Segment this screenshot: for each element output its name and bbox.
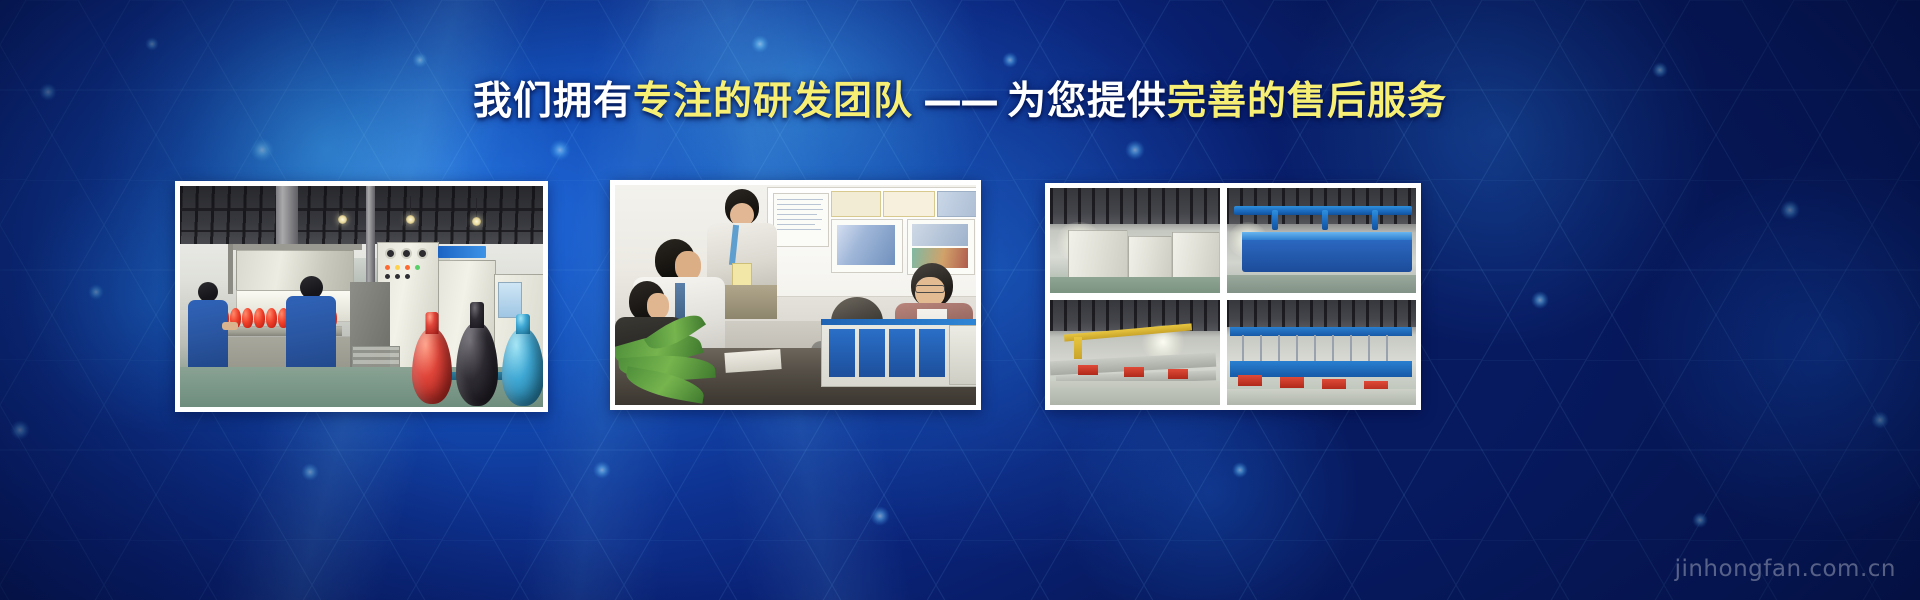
machine-blue-unit — [829, 329, 855, 377]
machine-illustration — [837, 225, 895, 265]
oven-top-highlight — [1242, 232, 1412, 240]
control-knob — [387, 250, 394, 257]
site-watermark: jinhongfan.com.cn — [1675, 556, 1896, 582]
product-vase-dark — [456, 302, 498, 406]
red-carrier — [1238, 375, 1262, 386]
q1-roof-structure — [1050, 188, 1222, 224]
vase-body — [502, 328, 543, 406]
headline-divider-dash: —— — [913, 79, 1007, 124]
poster-line — [777, 214, 817, 215]
pipe-drop — [1272, 210, 1278, 230]
product-vase-blue — [502, 314, 543, 406]
vase-body — [412, 328, 452, 404]
poster-text-block — [773, 193, 829, 247]
poster-line — [777, 219, 822, 220]
red-fixture — [1078, 365, 1098, 375]
indicator-led — [385, 274, 390, 279]
brand-label — [438, 246, 486, 258]
roof-beam — [180, 230, 543, 232]
indicator-led — [405, 274, 410, 279]
worker-hand — [222, 322, 238, 330]
vase-body — [456, 322, 498, 406]
red-product — [266, 308, 277, 328]
oven-cabinet — [1172, 232, 1220, 280]
poster-line — [777, 199, 823, 200]
red-fixture — [1168, 369, 1188, 379]
vase-neck — [470, 302, 484, 328]
collage-horizontal-divider — [1050, 293, 1416, 300]
red-fixture — [1124, 367, 1144, 377]
eyeglasses — [915, 285, 945, 293]
q4-roof-structure — [1226, 299, 1416, 327]
document-sheet — [724, 349, 781, 373]
overhead-rail — [1230, 327, 1412, 336]
lamp-wire — [342, 194, 343, 216]
collage-quadrant-bottom-right — [1226, 299, 1416, 405]
machine-blue-unit — [889, 329, 915, 377]
collage-quadrant-bottom-left — [1050, 299, 1222, 405]
worker-uniform — [188, 300, 228, 374]
poster-line — [777, 229, 821, 230]
q3-floor — [1050, 381, 1222, 405]
control-knob — [419, 250, 426, 257]
vase-neck — [426, 312, 439, 334]
ceiling-lamp — [406, 215, 415, 224]
gantry-post — [1074, 337, 1082, 359]
collage-quadrant-top-left — [1050, 188, 1222, 295]
machine-top-rail — [821, 319, 976, 325]
roof-beam — [180, 208, 543, 211]
oven-rail — [228, 244, 362, 250]
ceiling-lamp — [338, 215, 347, 224]
red-carrier — [1280, 377, 1304, 388]
machine-blue-unit — [919, 329, 945, 377]
machine-blue-unit — [859, 329, 885, 377]
machine-notice-card — [498, 282, 522, 318]
collage-quadrant-top-right — [1226, 188, 1416, 295]
q2-floor — [1226, 275, 1416, 295]
poster-line — [777, 204, 821, 205]
control-knob — [403, 250, 410, 257]
worker-head — [198, 282, 218, 302]
rnd-team-meeting-image — [615, 185, 976, 405]
headline-segment-2: 专注的研发团队 — [633, 79, 913, 124]
product-vase-red — [412, 312, 452, 404]
headline-segment-1: 我们拥有 — [473, 79, 633, 124]
poster-line — [777, 224, 815, 225]
banner-headline: 我们拥有专注的研发团队——为您提供完善的售后服务 — [473, 82, 1447, 121]
headline-container: 我们拥有专注的研发团队——为您提供完善的售后服务 — [0, 82, 1920, 121]
indicator-led — [395, 265, 400, 270]
headline-segment-4: 完善的售后服务 — [1167, 79, 1447, 124]
red-product — [242, 308, 253, 328]
promo-banner: 我们拥有专注的研发团队——为您提供完善的售后服务 — [0, 0, 1920, 600]
indicator-led — [385, 265, 390, 270]
factory-coating-line-image — [180, 186, 543, 407]
poster-certificate — [883, 191, 935, 217]
factory-thumbnail — [912, 224, 968, 246]
pipe-drop — [1372, 210, 1378, 230]
poster-line — [777, 209, 823, 210]
indicator-led — [395, 274, 400, 279]
workshop-collage-photo[interactable] — [1045, 183, 1421, 410]
oven-cabinet — [1068, 230, 1128, 280]
machine-end-cabinet — [949, 325, 976, 385]
pipe-drop — [1322, 210, 1328, 230]
vase-neck — [516, 314, 530, 334]
indicator-led — [415, 265, 420, 270]
ceiling-lamp — [472, 217, 481, 226]
lamp-wire — [476, 198, 477, 218]
indicator-led — [405, 265, 410, 270]
woman-face — [647, 293, 669, 319]
poster-diagram — [937, 191, 976, 217]
workshop-roof — [180, 186, 543, 248]
rnd-team-meeting-photo[interactable] — [610, 180, 981, 410]
id-badge — [732, 263, 752, 287]
support-column — [366, 186, 375, 290]
lamp-wire — [410, 196, 411, 216]
factory-coating-line-photo[interactable] — [175, 181, 548, 412]
q4-floor — [1226, 389, 1416, 405]
headline-segment-3: 为您提供 — [1007, 79, 1167, 124]
workshop-collage-image — [1050, 188, 1416, 405]
oven-cabinet — [1128, 236, 1172, 280]
q3-roof-structure — [1050, 299, 1222, 331]
poster-certificate — [831, 191, 881, 217]
red-product — [254, 308, 265, 328]
